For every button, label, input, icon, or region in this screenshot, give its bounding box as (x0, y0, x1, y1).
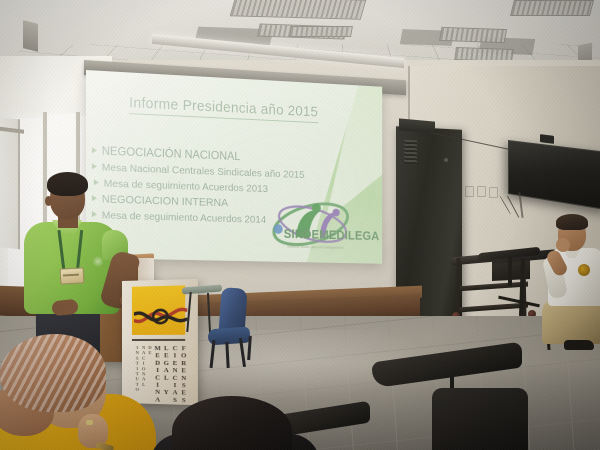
logo-tagline: Nuestra unión para los trabajadores (287, 245, 343, 250)
ceiling-vent (289, 26, 353, 37)
equipment-rack-indicator (444, 158, 448, 162)
logo-wordmark: SINDEMEDILEGA (284, 227, 380, 243)
tablet-arm-chair (478, 250, 544, 290)
banner-line: FORENSES (179, 345, 186, 404)
attendee-hair (556, 214, 588, 230)
chair-leg (247, 336, 251, 360)
equipment-rack-vent (404, 140, 417, 165)
attendee-shirt-crest (578, 264, 590, 276)
ceiling-vent (230, 0, 367, 20)
ceiling-speaker (23, 20, 38, 52)
tablet-arm-chair (372, 352, 532, 450)
attendee-shoe (564, 340, 594, 350)
slide-bullet-label: NEGOCIACIÓN NACIONAL (102, 145, 241, 163)
id-badge-line (63, 274, 79, 277)
ceiling-vent (510, 0, 594, 16)
presenter-ear (45, 196, 52, 206)
dna-helix-icon (134, 300, 187, 331)
tv-wall-mount (540, 134, 554, 144)
attendee-foreground-left (0, 332, 162, 450)
desk-chair-leg (186, 292, 192, 332)
seated-attendee-right (542, 212, 600, 352)
presenter-shirt-logo (92, 256, 104, 267)
chair-leg (225, 342, 229, 368)
banner-line: CIENCIAS (170, 345, 177, 404)
banner-line: LEGAL Y (162, 345, 169, 404)
slide-title: Informe Presidencia año 2015 (129, 95, 318, 123)
attendee-pants (542, 300, 600, 344)
photo-scene: Informe Presidencia año 2015 NEGOCIACIÓN… (0, 0, 600, 450)
attendee-hand (556, 238, 570, 252)
triangle-bullet-icon (92, 147, 97, 153)
wall-outlet (477, 186, 486, 197)
wall-outlet (489, 187, 498, 198)
ceiling-vent (439, 27, 507, 43)
triangle-bullet-icon (92, 163, 97, 169)
chair-post (508, 256, 512, 286)
wall-outlet (465, 186, 474, 197)
chair-leg (210, 340, 216, 368)
attendee-ring (86, 420, 93, 425)
banner-yellow-panel (132, 285, 185, 335)
chair-backrest (432, 388, 528, 450)
blue-plastic-chair (208, 288, 256, 368)
sindemedilega-logo: SINDEMEDILEGA Nuestra unión para los tra… (269, 198, 370, 254)
presenter-hair (47, 172, 88, 196)
presenter-id-badge (60, 267, 85, 284)
patterned-headscarf (0, 334, 106, 412)
